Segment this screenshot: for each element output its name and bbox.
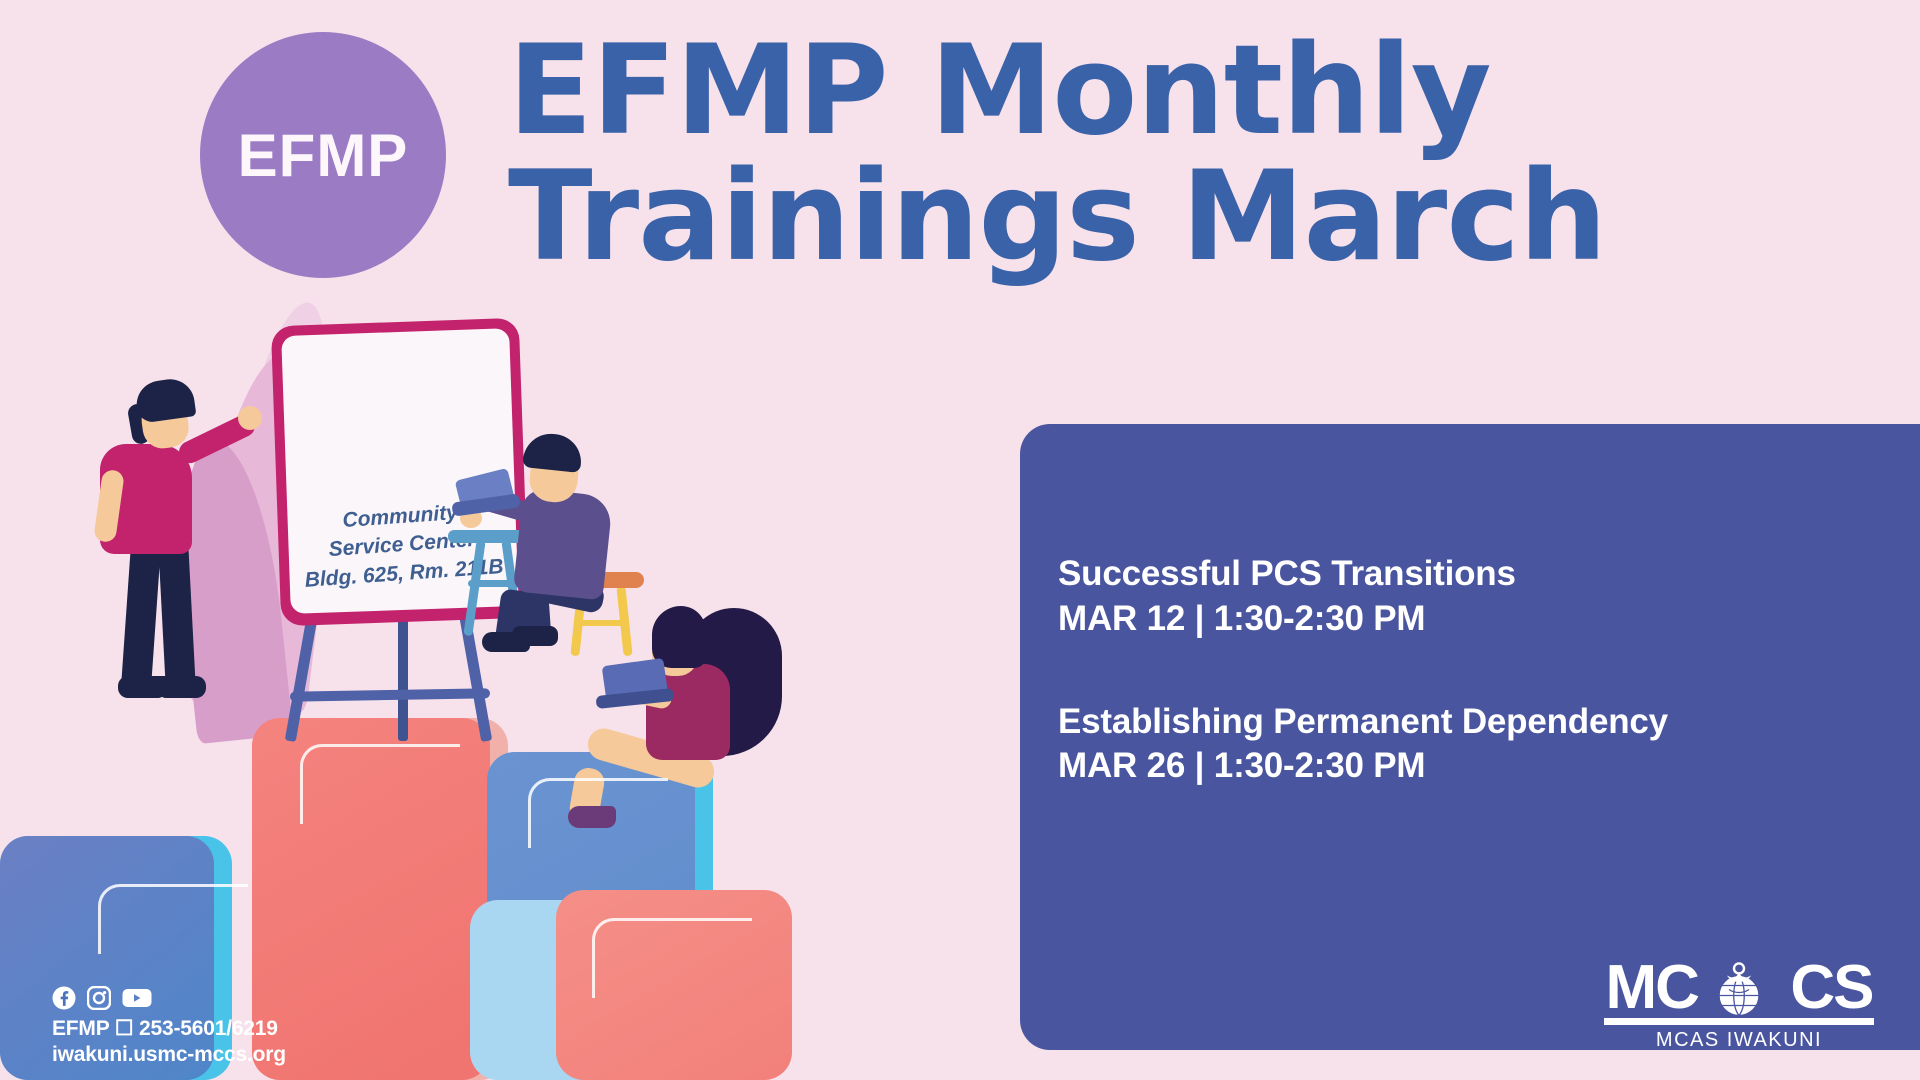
step-accent-line-3 [528, 778, 668, 848]
event-list: Successful PCS Transitions MAR 12 | 1:30… [1058, 552, 1818, 789]
mccs-wordmark: MCOOCS [1604, 959, 1874, 1016]
event-item: Successful PCS Transitions MAR 12 | 1:30… [1058, 552, 1818, 642]
presenter-leg-left [121, 545, 161, 687]
contact-phone: EFMP ☐ 253-5601/6219 [52, 1016, 472, 1042]
youtube-icon[interactable] [122, 987, 152, 1009]
efmp-badge-label: EFMP [238, 121, 409, 190]
mccs-wordmark-left: MC [1605, 953, 1697, 1022]
step-accent-line-2 [300, 744, 460, 824]
contact-block: EFMP ☐ 253-5601/6219 iwakuni.usmc-mccs.o… [52, 986, 472, 1067]
event-title: Successful PCS Transitions [1058, 552, 1818, 597]
contact-website[interactable]: iwakuni.usmc-mccs.org [52, 1042, 472, 1068]
whiteboard-surface: Community Service Center Bldg. 625, Rm. … [281, 328, 519, 614]
presenter-hair [133, 376, 196, 424]
seated-person-shoe-right [512, 626, 558, 646]
page-title: EFMP Monthly Trainings March [508, 28, 1708, 281]
page-title-line-1: EFMP Monthly [508, 28, 1708, 154]
event-datetime: MAR 26 | 1:30-2:30 PM [1058, 744, 1818, 789]
instagram-icon[interactable] [87, 986, 111, 1010]
mccs-wordmark-right: CS [1790, 953, 1872, 1022]
seated-person-hair [522, 431, 583, 473]
stool-crossbar [576, 620, 624, 626]
mccs-logo: MCOOCS MCAS IWAKUNI [1604, 959, 1874, 1052]
mccs-logo-subtitle: MCAS IWAKUNI [1604, 1029, 1874, 1052]
facebook-icon[interactable] [52, 986, 76, 1010]
presenter-hand [238, 406, 262, 430]
poster-canvas: EFMP EFMP Monthly Trainings March Commun… [0, 0, 1920, 1080]
step-accent-line-4 [592, 918, 752, 998]
presenter-shoe-right [158, 676, 206, 698]
event-datetime: MAR 12 | 1:30-2:30 PM [1058, 597, 1818, 642]
easel-center-leg [398, 616, 408, 741]
event-title: Establishing Permanent Dependency [1058, 700, 1818, 745]
efmp-badge: EFMP [200, 32, 446, 278]
page-title-line-2: Trainings March [508, 154, 1708, 280]
step-accent-line-1 [98, 884, 248, 954]
eagle-globe-anchor-icon [1702, 952, 1776, 1026]
social-icon-row [52, 986, 472, 1010]
event-item: Establishing Permanent Dependency MAR 26… [1058, 700, 1818, 790]
easel-tray [290, 688, 490, 701]
